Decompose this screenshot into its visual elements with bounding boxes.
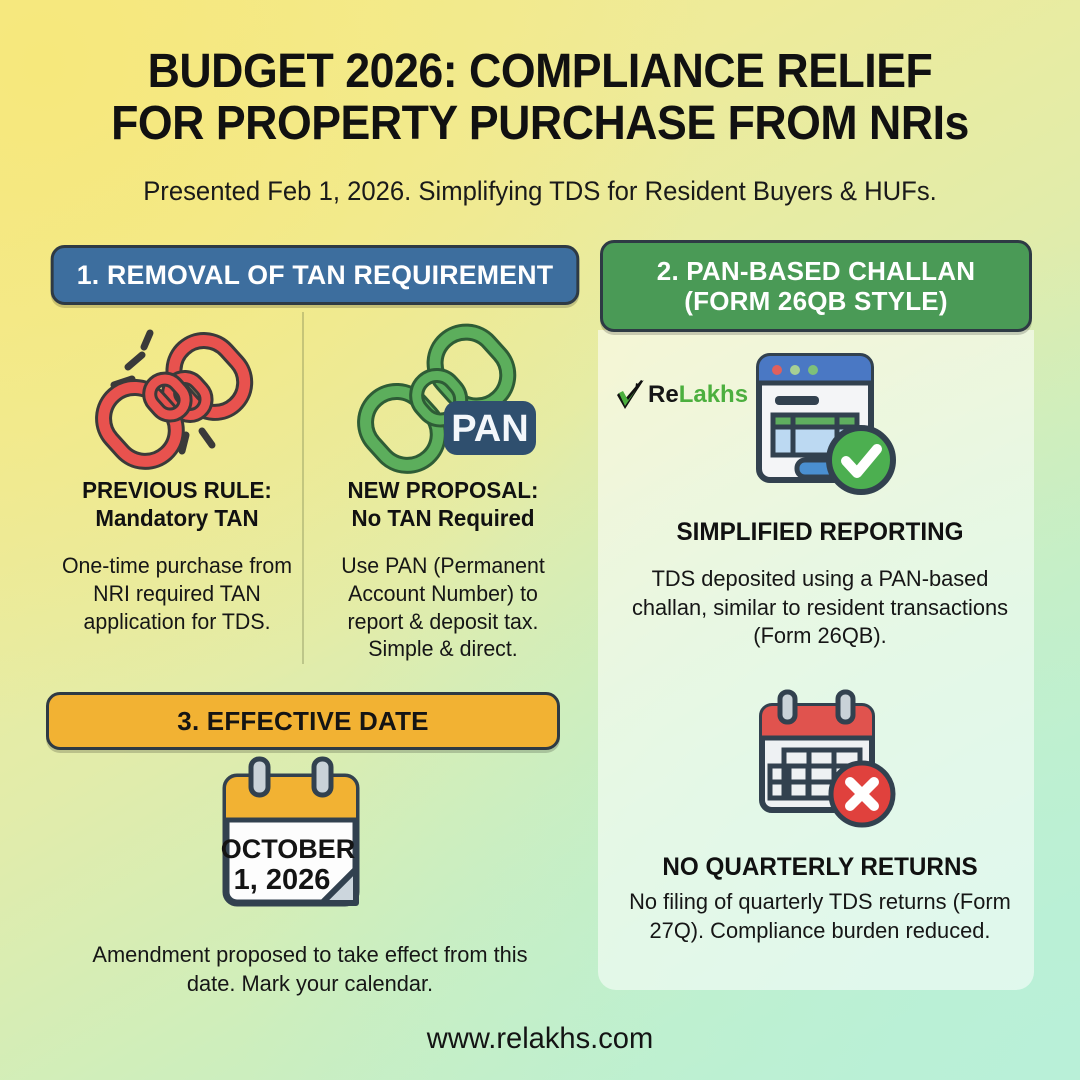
logo-text-accent: Lakhs [679, 381, 748, 408]
previous-rule-heading: PREVIOUS RULE: Mandatory TAN [56, 476, 299, 532]
section-3-body: Amendment proposed to take effect from t… [68, 940, 553, 999]
simplified-reporting-heading: SIMPLIFIED REPORTING [616, 518, 1023, 547]
section-1-header: 1. REMOVAL OF TAN REQUIREMENT [51, 245, 580, 305]
page-title: BUDGET 2026: COMPLIANCE RELIEF FOR PROPE… [38, 46, 1042, 150]
section-1-column-previous-rule: PREVIOUS RULE: Mandatory TAN One-time pu… [52, 320, 302, 635]
new-proposal-heading-line-1: NEW PROPOSAL: [322, 476, 565, 504]
title-line-1: BUDGET 2026: COMPLIANCE RELIEF [38, 46, 1042, 98]
new-proposal-body: Use PAN (Permanent Account Number) to re… [322, 552, 565, 663]
simplified-reporting-body: TDS deposited using a PAN-based challan,… [624, 565, 1016, 651]
previous-rule-heading-line-2: Mandatory TAN [56, 504, 299, 532]
infographic-poster: BUDGET 2026: COMPLIANCE RELIEF FOR PROPE… [0, 0, 1080, 1080]
chain-pan-icon: PAN [318, 320, 568, 470]
browser-window-check-icon [745, 348, 905, 498]
new-proposal-heading: NEW PROPOSAL: No TAN Required [322, 476, 565, 532]
section-3-header: 3. EFFECTIVE DATE [46, 692, 560, 750]
calendar-day-year-text: 1, 2026 [234, 864, 331, 896]
calendar-cross-icon [752, 688, 902, 828]
footer-url: www.relakhs.com [16, 1022, 1064, 1056]
no-quarterly-returns-heading: NO QUARTERLY RETURNS [616, 853, 1023, 882]
broken-chain-icon [52, 320, 302, 470]
column-divider [302, 312, 304, 664]
section-1-column-new-proposal: PAN NEW PROPOSAL: No TAN Required Use PA… [318, 320, 568, 663]
page-subtitle: Presented Feb 1, 2026. Simplifying TDS f… [27, 176, 1053, 207]
previous-rule-heading-line-1: PREVIOUS RULE: [56, 476, 299, 504]
previous-rule-body: One-time purchase from NRI required TAN … [56, 552, 299, 635]
new-proposal-heading-line-2: No TAN Required [322, 504, 565, 532]
svg-text:PAN: PAN [451, 408, 528, 450]
no-quarterly-returns-body: No filing of quarterly TDS returns (Form… [624, 888, 1016, 945]
relakhs-logo: ReLakhs [614, 372, 734, 418]
calendar-date-icon: OCTOBER 1, 2026 [200, 755, 380, 920]
relakhs-bird-icon [614, 378, 646, 412]
relakhs-logo-text: ReLakhs [648, 381, 748, 409]
title-line-2: FOR PROPERTY PURCHASE FROM NRIs [38, 98, 1042, 150]
calendar-month-text: OCTOBER [221, 834, 356, 864]
section-2-header: 2. PAN-BASED CHALLAN (FORM 26QB STYLE) [600, 240, 1032, 332]
section-2-header-line-2: (FORM 26QB STYLE) [657, 286, 975, 316]
section-2-header-line-1: 2. PAN-BASED CHALLAN [657, 256, 975, 286]
logo-text-primary: Re [648, 381, 679, 408]
